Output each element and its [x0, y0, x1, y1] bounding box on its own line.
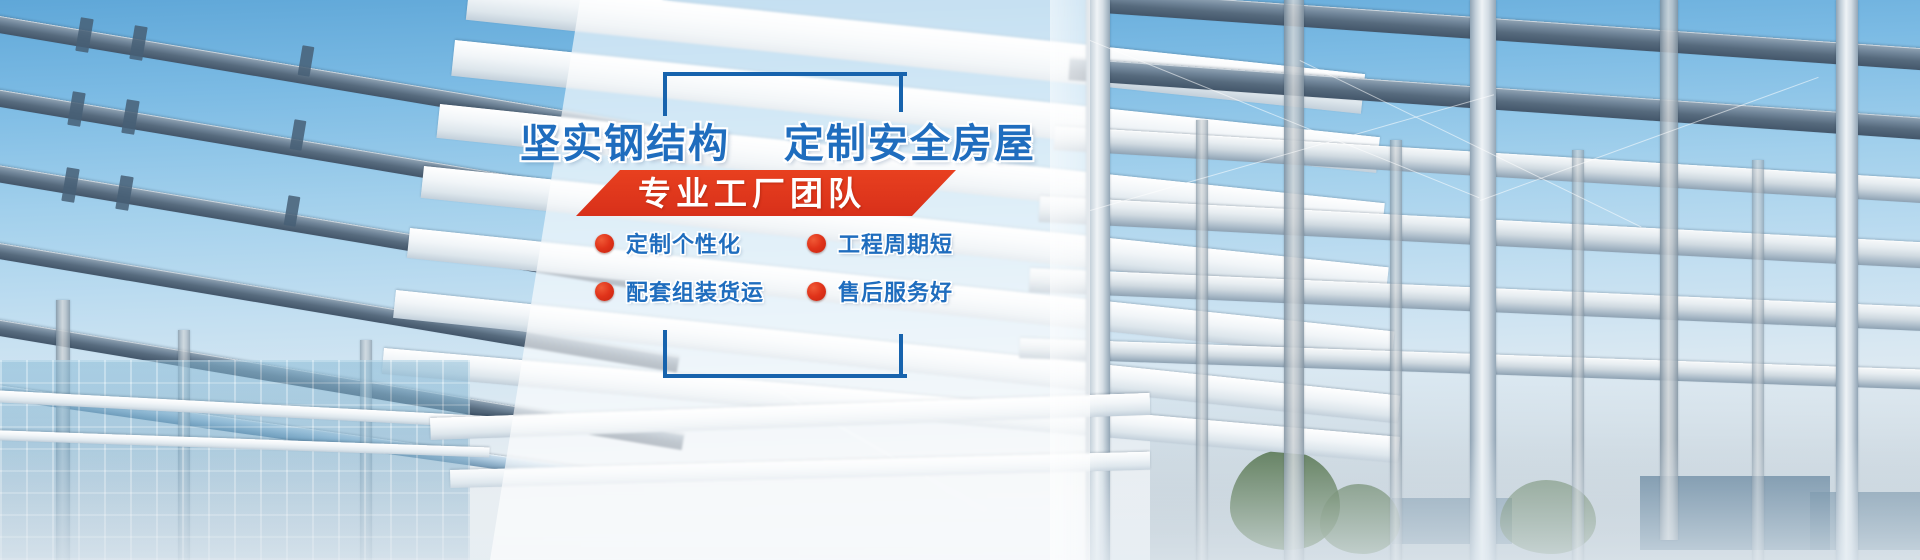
banner-headline: 坚实钢结构 定制安全房屋: [520, 118, 1060, 170]
feature-item: 定制个性化: [595, 226, 795, 260]
ribbon-label: 专业工厂团队: [638, 174, 866, 214]
bullet-dot-icon: [807, 282, 826, 301]
bracket-top-left-icon: [663, 72, 907, 116]
bracket-bottom-left-icon: [663, 330, 907, 378]
feature-label: 工程周期短: [838, 227, 953, 259]
bullet-dot-icon: [595, 234, 614, 253]
bullet-dot-icon: [807, 234, 826, 253]
feature-item: 工程周期短: [807, 226, 997, 260]
feature-list: 定制个性化 工程周期短 配套组装货运 售后服务好: [595, 226, 1025, 308]
bracket-top-right-tick-icon: [899, 72, 903, 112]
feature-label: 配套组装货运: [626, 275, 764, 307]
feature-item: 配套组装货运: [595, 274, 795, 308]
content-panel-fade: [1050, 0, 1110, 560]
feature-item: 售后服务好: [807, 274, 997, 308]
hero-banner: 坚实钢结构 定制安全房屋 专业工厂团队 定制个性化 工程周期短 配套组装货运 售…: [0, 0, 1920, 560]
headline-part-2: 定制安全房屋: [784, 121, 1036, 167]
bullet-dot-icon: [595, 282, 614, 301]
feature-label: 售后服务好: [838, 275, 953, 307]
feature-label: 定制个性化: [626, 227, 741, 259]
headline-part-1: 坚实钢结构: [520, 121, 730, 167]
bracket-bottom-right-tick-icon: [899, 334, 903, 374]
